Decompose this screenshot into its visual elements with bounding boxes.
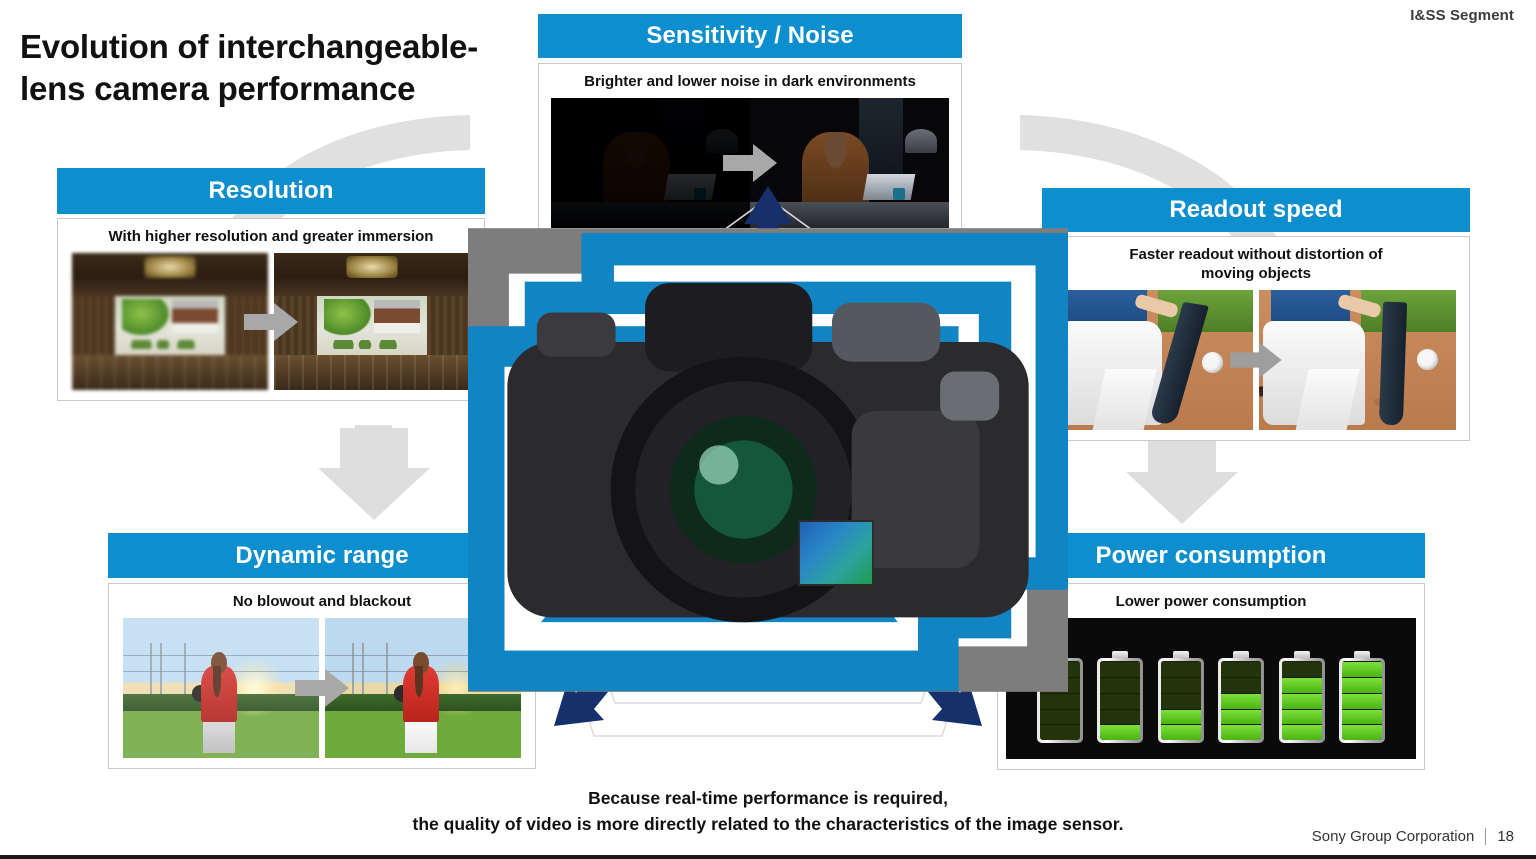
panel-sensitivity-caption: Brighter and lower noise in dark environ…: [547, 72, 953, 91]
dynamic-range-image-pair: [117, 618, 527, 758]
pentagon-diagram: Still image Movie: [468, 180, 1068, 740]
footer-rule: [0, 855, 1536, 859]
bottom-note-line2: the quality of video is more directly re…: [0, 812, 1536, 837]
panel-resolution-caption: With higher resolution and greater immer…: [66, 227, 476, 246]
panel-resolution-title: Resolution: [57, 168, 485, 214]
resolution-transition-arrow: [242, 301, 300, 343]
battery-indicator: [1339, 651, 1385, 743]
panel-resolution-body: With higher resolution and greater immer…: [57, 218, 485, 401]
dynamic-range-before-photo: [123, 618, 319, 758]
panel-readout-title: Readout speed: [1042, 188, 1470, 232]
footer-company: Sony Group Corporation: [1312, 828, 1475, 845]
panel-readout-caption-line1: Faster readout without distortion of: [1129, 246, 1382, 263]
image-sensor-chip: [798, 520, 874, 586]
readout-before-photo: [1056, 290, 1253, 430]
battery-indicator: [1279, 651, 1325, 743]
panel-readout-body: Faster readout without distortion of mov…: [1042, 236, 1470, 441]
panel-resolution: Resolution With higher resolution and gr…: [57, 168, 485, 401]
sensitivity-transition-arrow: [721, 142, 779, 184]
footer: Sony Group Corporation 18: [1312, 828, 1514, 845]
battery-indicator: [1158, 651, 1204, 743]
panel-readout-caption-line2: moving objects: [1201, 265, 1311, 282]
page-title: Evolution of interchangeable-lens camera…: [20, 26, 540, 109]
slide-canvas: I&SS Segment Evolution of interchangeabl…: [0, 0, 1536, 859]
segment-label: I&SS Segment: [1410, 7, 1514, 24]
resolution-image-pair: [66, 253, 476, 390]
panel-readout-caption: Faster readout without distortion of mov…: [1051, 245, 1461, 283]
bottom-note: Because real-time performance is require…: [0, 786, 1536, 837]
mirrorless-camera: [468, 180, 1068, 740]
panel-readout: Readout speed Faster readout without dis…: [1042, 188, 1470, 441]
readout-after-photo: [1259, 290, 1456, 430]
readout-image-pair: [1051, 290, 1461, 430]
footer-page-number: 18: [1497, 828, 1514, 845]
resolution-before-photo: [72, 253, 268, 390]
panel-sensitivity-title: Sensitivity / Noise: [538, 14, 962, 58]
panel-dynamic-range-caption: No blowout and blackout: [117, 592, 527, 611]
resolution-after-photo: [274, 253, 470, 390]
battery-indicator: [1218, 651, 1264, 743]
dynamic-range-transition-arrow: [293, 667, 351, 709]
footer-divider: [1485, 828, 1486, 845]
battery-indicator: [1097, 651, 1143, 743]
readout-transition-arrow: [1228, 340, 1284, 380]
bottom-note-line1: Because real-time performance is require…: [588, 788, 948, 808]
